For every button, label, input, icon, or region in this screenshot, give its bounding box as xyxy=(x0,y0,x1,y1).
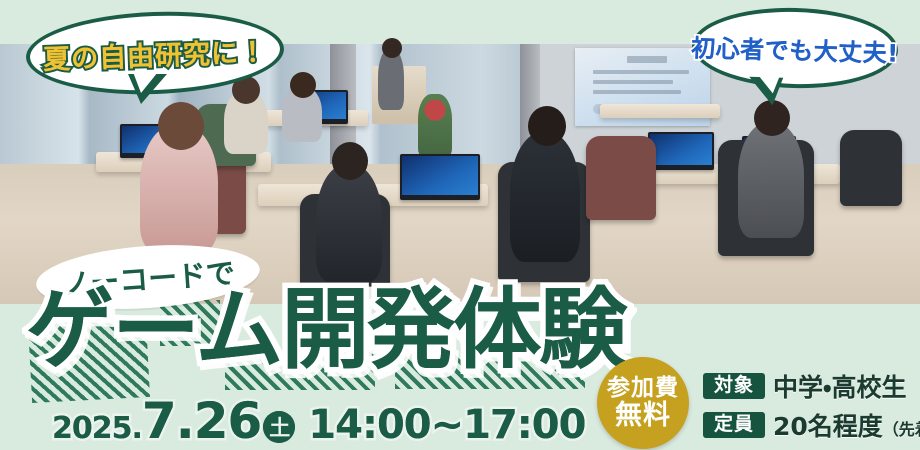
main-title: ゲーム開発体験 xyxy=(26,286,636,374)
schedule-date: 7.26 xyxy=(142,392,261,450)
details-value-capacity: 20名程度（先着順） xyxy=(773,407,920,443)
bubble-tail-right xyxy=(748,77,783,106)
details-row-target: 対象 中学・高校生 xyxy=(703,368,920,404)
bubble-left-text-fill: 夏の自由研究に！ xyxy=(42,30,267,77)
schedule-day-of-week: 土 xyxy=(263,411,295,443)
bubble-right-text-fill: 初心者でも大丈夫! xyxy=(691,28,899,68)
details-label-capacity: 定員 xyxy=(703,412,765,438)
bubble-tail-left xyxy=(128,74,167,104)
fee-badge-label: 参加費 xyxy=(607,376,679,401)
event-banner: 夏の自由研究に！ 夏の自由研究に！ 初心者でも大丈夫! 初心者でも大丈夫! ゲー… xyxy=(0,0,920,450)
details-row-capacity: 定員 20名程度（先着順） xyxy=(703,407,920,443)
fee-badge-value: 無料 xyxy=(615,401,671,430)
schedule: 2025. 7.26 土 14:00~17:00 xyxy=(52,392,585,450)
schedule-year: 2025. xyxy=(52,411,142,446)
details-note-capacity: （先着順） xyxy=(883,420,920,439)
details-value-target: 中学・高校生 xyxy=(773,368,907,404)
schedule-time: 14:00~17:00 xyxy=(308,402,585,448)
fee-badge: 参加費 無料 xyxy=(597,357,689,449)
details-table: 対象 中学・高校生 定員 20名程度（先着順） xyxy=(703,368,920,446)
details-label-target: 対象 xyxy=(703,373,765,399)
